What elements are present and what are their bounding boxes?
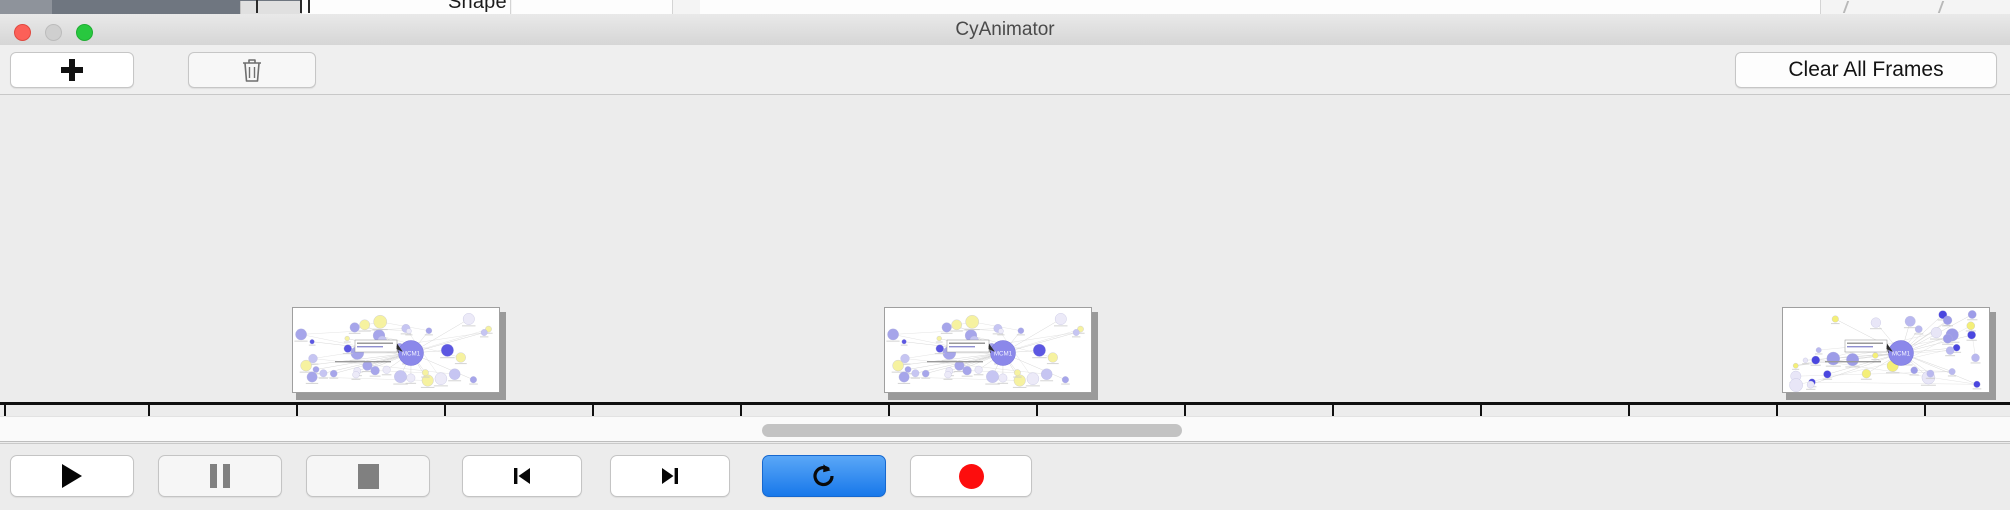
axis-tick-minor xyxy=(740,405,742,416)
svg-text:MCM1: MCM1 xyxy=(1892,351,1911,358)
axis-tick-minor xyxy=(1628,405,1630,416)
svg-text:MCM1: MCM1 xyxy=(994,351,1013,358)
stop-button[interactable] xyxy=(306,455,430,497)
cyanimator-window: Shape CyAnimator Clear All Frames MCM1MC… xyxy=(0,0,2010,510)
background-slash xyxy=(1843,1,1849,13)
background-segment xyxy=(512,0,673,14)
background-segment xyxy=(1220,0,1521,14)
background-dark-segment-1 xyxy=(0,0,52,14)
play-icon xyxy=(62,464,82,488)
record-button[interactable] xyxy=(910,455,1032,497)
thumbnail-network-preview: MCM1 xyxy=(292,307,500,393)
background-segment xyxy=(300,0,411,14)
background-segment xyxy=(700,0,941,14)
axis-tick-major xyxy=(296,405,298,416)
plus-icon xyxy=(60,58,84,82)
delete-frame-button[interactable] xyxy=(188,52,316,88)
loop-button[interactable] xyxy=(762,455,886,497)
skip-to-end-icon xyxy=(657,463,683,489)
title-bar: CyAnimator xyxy=(0,14,2010,46)
play-button[interactable] xyxy=(10,455,134,497)
background-window-title: Shape xyxy=(448,0,507,14)
pause-button[interactable] xyxy=(158,455,282,497)
background-segment xyxy=(1520,0,1821,14)
background-roundbox xyxy=(240,1,302,15)
skip-to-end-button[interactable] xyxy=(610,455,730,497)
thumbnail-network-preview: MCM1 xyxy=(1782,307,1990,393)
add-frame-button[interactable] xyxy=(10,52,134,88)
thumbnail-network-preview: MCM1 xyxy=(884,307,1092,393)
window-title: CyAnimator xyxy=(0,14,2010,45)
axis-tick-major xyxy=(888,405,890,416)
axis-tick-minor xyxy=(444,405,446,416)
clear-all-frames-button[interactable]: Clear All Frames xyxy=(1735,52,1997,88)
timeline-scrollbar-thumb[interactable] xyxy=(762,424,1182,437)
axis-tick-minor xyxy=(1924,405,1926,416)
background-tick xyxy=(308,0,310,13)
trash-icon xyxy=(241,57,263,83)
skip-to-start-button[interactable] xyxy=(462,455,582,497)
skip-to-start-icon xyxy=(509,463,535,489)
background-tick xyxy=(300,0,302,13)
svg-text:MCM1: MCM1 xyxy=(402,351,421,358)
loop-icon xyxy=(809,461,839,491)
timeline-scrollbar[interactable] xyxy=(0,416,2010,442)
timeline-panel[interactable]: MCM1MCM1MCM1 12131415161718 Seconds xyxy=(0,95,2010,416)
axis-tick-major xyxy=(4,405,6,416)
axis-tick-major xyxy=(592,405,594,416)
axis-tick-minor xyxy=(148,405,150,416)
background-window-strip: Shape xyxy=(0,0,2010,15)
background-tick xyxy=(256,0,258,13)
axis-tick-minor xyxy=(1332,405,1334,416)
background-slash xyxy=(1938,1,1944,13)
axis-tick-major xyxy=(1776,405,1778,416)
timeline-frame-thumbnail[interactable]: MCM1 xyxy=(292,307,506,400)
toolbar: Clear All Frames xyxy=(0,45,2010,95)
pause-icon xyxy=(210,464,230,488)
timeline-frame-thumbnail[interactable]: MCM1 xyxy=(1782,307,1996,400)
axis-tick-minor xyxy=(1036,405,1038,416)
playback-control-bar: Animation Speed: xyxy=(0,443,2010,510)
timeline-axis xyxy=(0,402,2010,405)
stop-icon xyxy=(358,464,379,489)
timeline-frame-thumbnail[interactable]: MCM1 xyxy=(884,307,1098,400)
axis-tick-major xyxy=(1480,405,1482,416)
axis-tick-major xyxy=(1184,405,1186,416)
record-icon xyxy=(959,464,984,489)
background-segment xyxy=(940,0,1221,14)
